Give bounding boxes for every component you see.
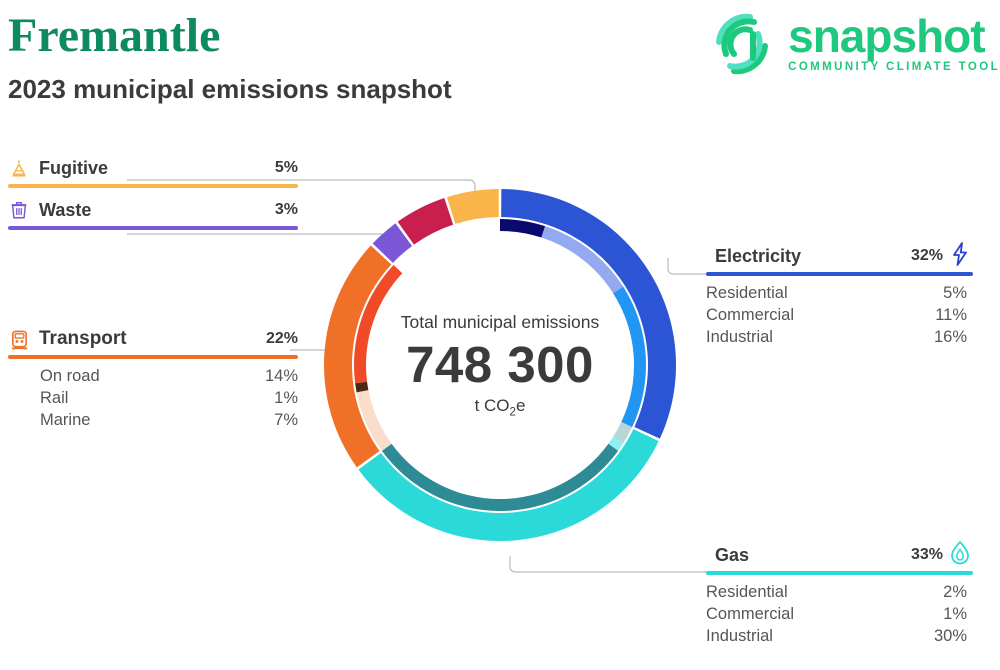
legend-waste-pct: 3%: [275, 201, 298, 219]
donut-outer-ring: [324, 189, 676, 541]
logo-tagline: COMMUNITY CLIMATE TOOL: [788, 60, 1000, 74]
sub-pct: 11%: [935, 304, 967, 326]
sub-label: Commercial: [706, 603, 794, 625]
legend-gas[interactable]: Gas 33% Residential 2% Commercial 1% Ind…: [706, 542, 973, 647]
lightning-bolt-icon: [947, 241, 973, 267]
sub-pct: 16%: [934, 326, 967, 348]
legend-electricity-head: Electricity 32%: [706, 243, 973, 269]
legend-waste-head: Waste 3%: [8, 197, 298, 223]
list-item: On road 14%: [40, 365, 298, 387]
list-item: Residential 5%: [706, 282, 967, 304]
snapshot-logo: snapshot COMMUNITY CLIMATE TOOL: [706, 8, 1000, 84]
legend-transport-head: Transport 22%: [8, 326, 298, 352]
donut-slice-other[interactable]: [398, 198, 453, 245]
trash-bin-icon: [8, 198, 30, 222]
sub-pct: 2%: [943, 581, 967, 603]
sub-pct: 1%: [943, 603, 967, 625]
legend-gas-sublist: Residential 2% Commercial 1% Industrial …: [706, 581, 967, 647]
legend-electricity-rule: [706, 272, 973, 276]
legend-transport-label: Transport: [39, 328, 127, 350]
list-item: Rail 1%: [40, 387, 298, 409]
legend-transport-sublist: On road 14% Rail 1% Marine 7%: [8, 365, 298, 431]
sub-label: Residential: [706, 581, 788, 603]
legend-waste[interactable]: Waste 3%: [8, 197, 298, 230]
legend-fugitive-pct: 5%: [275, 159, 298, 177]
sub-pct: 5%: [943, 282, 967, 304]
spiral-swirl-icon: [706, 8, 778, 80]
page-subtitle: 2023 municipal emissions snapshot: [8, 73, 452, 105]
legend-fugitive[interactable]: Fugitive 5%: [8, 155, 298, 188]
legend-waste-rule: [8, 226, 298, 230]
legend-transport-pct: 22%: [266, 330, 298, 348]
legend-gas-head: Gas 33%: [706, 542, 973, 568]
legend-fugitive-rule: [8, 184, 298, 188]
sub-pct: 14%: [265, 365, 298, 387]
donut-inner-ring: [354, 219, 646, 511]
sub-label: On road: [40, 365, 100, 387]
sub-label: Marine: [40, 409, 90, 431]
legend-fugitive-head: Fugitive 5%: [8, 155, 298, 181]
donut-slice-fugitive[interactable]: [447, 189, 499, 224]
legend-waste-label: Waste: [39, 200, 91, 221]
list-item: Commercial 1%: [706, 603, 967, 625]
flame-icon: [947, 540, 973, 566]
list-item: Commercial 11%: [706, 304, 967, 326]
sub-pct: 1%: [274, 387, 298, 409]
page-title: Fremantle: [8, 8, 220, 64]
sub-label: Commercial: [706, 304, 794, 326]
legend-gas-pct: 33%: [911, 546, 943, 564]
legend-gas-rule: [706, 571, 973, 575]
legend-electricity-sublist: Residential 5% Commercial 11% Industrial…: [706, 282, 967, 348]
legend-transport-rule: [8, 355, 298, 359]
gas-flare-icon: [8, 156, 30, 180]
list-item: Marine 7%: [40, 409, 298, 431]
legend-fugitive-label: Fugitive: [39, 158, 108, 179]
sub-label: Residential: [706, 282, 788, 304]
legend-electricity-label: Electricity: [715, 246, 801, 267]
infographic-page: Fremantle 2023 municipal emissions snaps…: [0, 0, 1000, 670]
sub-label: Rail: [40, 387, 68, 409]
connector-gas: [508, 556, 710, 574]
sub-pct: 7%: [274, 409, 298, 431]
list-item: Industrial 16%: [706, 326, 967, 348]
logo-wordmark: snapshot: [788, 12, 1000, 60]
emissions-donut-chart[interactable]: [320, 185, 680, 545]
legend-gas-label: Gas: [715, 545, 749, 566]
legend-electricity[interactable]: Electricity 32% Residential 5% Commercia…: [706, 243, 973, 348]
list-item: Residential 2%: [706, 581, 967, 603]
train-icon: [8, 327, 30, 351]
sub-pct: 30%: [934, 625, 967, 647]
sub-label: Industrial: [706, 625, 773, 647]
legend-electricity-pct: 32%: [911, 247, 943, 265]
legend-transport[interactable]: Transport 22% On road 14% Rail 1% Marine…: [8, 326, 298, 431]
list-item: Industrial 30%: [706, 625, 967, 647]
sub-label: Industrial: [706, 326, 773, 348]
